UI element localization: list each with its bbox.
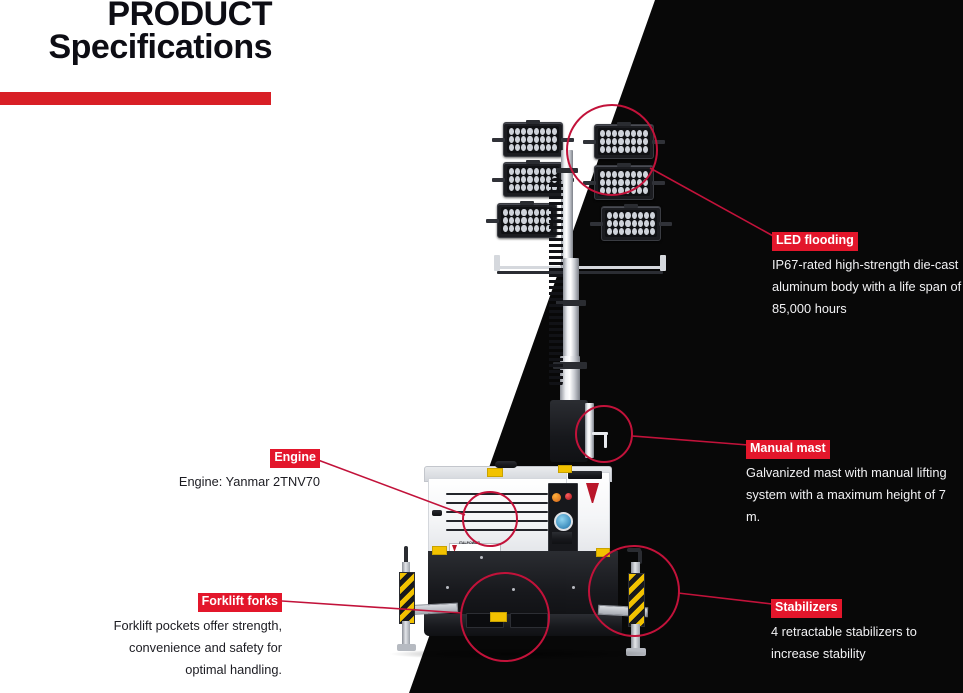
callout-engine: Engine Engine: Yanmar 2TNV70 <box>120 448 320 493</box>
mast-winch-crank-handle <box>604 432 607 448</box>
air-intake-louver <box>446 520 548 522</box>
led-bracket-right <box>561 138 574 142</box>
callout-description-led: IP67-rated high-strength die-cast alumin… <box>772 254 962 320</box>
callout-description-engine: Engine: Yanmar 2TNV70 <box>120 471 320 493</box>
air-intake-louver <box>446 511 548 513</box>
led-bracket-top <box>526 120 540 124</box>
led-diode-grid <box>501 207 553 234</box>
control-panel-slot <box>552 532 572 544</box>
air-intake-louver <box>446 493 548 495</box>
brand-name: ITALPOWER <box>459 541 480 545</box>
led-bracket-right <box>659 222 672 226</box>
callout-label-manual-mast: Manual mast <box>746 440 830 459</box>
led-diode-grid <box>598 169 650 196</box>
led-panel-6 <box>601 206 661 241</box>
led-cross-arm-stub-right <box>660 255 666 271</box>
callout-forklift-forks: Forklift forks Forklift pockets offer st… <box>85 592 282 681</box>
led-bracket-right <box>652 181 665 185</box>
stabilizer-leg-left <box>396 546 418 656</box>
led-cross-arm-stub-left <box>494 255 500 271</box>
chassis-bolt <box>512 588 515 591</box>
led-bracket-left <box>583 181 596 185</box>
chassis-bolt <box>572 586 575 589</box>
callout-description-stabilizers: 4 retractable stabilizers to increase st… <box>771 621 961 665</box>
led-bracket-left <box>492 178 505 182</box>
led-cross-arm-upper <box>497 266 663 269</box>
led-panel-1 <box>503 122 563 157</box>
indicator-lamp-red <box>565 493 572 500</box>
led-bracket-top <box>526 160 540 164</box>
led-diode-grid <box>605 210 657 237</box>
stabilizer-leg-right <box>625 548 647 660</box>
stabilizer-inner-tube <box>631 624 640 650</box>
led-diode-grid <box>507 126 559 153</box>
air-intake-louver <box>446 502 548 504</box>
led-cross-arm-lower <box>497 271 663 274</box>
emergency-stop-button <box>552 493 561 502</box>
ground-shadow <box>388 648 656 660</box>
forklift-pocket-right <box>510 613 548 628</box>
spiral-power-cable <box>549 178 563 388</box>
control-gauge <box>554 512 573 531</box>
led-bracket-left <box>583 140 596 144</box>
door-handle <box>432 510 442 516</box>
callout-description-forklift-forks: Forklift pockets offer strength, conveni… <box>85 615 282 681</box>
callout-led-flooding: LED flooding IP67-rated high-strength di… <box>772 231 962 320</box>
stabilizer-inner-tube <box>402 621 410 646</box>
roof-lifting-eye <box>495 461 517 468</box>
led-panel-3 <box>497 203 557 238</box>
mast-base-housing <box>550 400 588 462</box>
decal-warning-1 <box>432 546 447 555</box>
forklift-warning-label <box>490 612 507 622</box>
led-bracket-top <box>617 163 631 167</box>
roof-warning-label <box>487 468 503 477</box>
stabilizer-warning-stripes <box>399 572 415 624</box>
mast-head-clamp <box>556 168 578 173</box>
mast-base-rail <box>585 403 594 458</box>
callout-stabilizers: Stabilizers 4 retractable stabilizers to… <box>771 598 961 665</box>
callout-manual-mast: Manual mast Galvanized mast with manual … <box>746 439 951 528</box>
chassis-bolt <box>480 556 483 559</box>
callout-description-manual-mast: Galvanized mast with manual lifting syst… <box>746 462 951 528</box>
led-bracket-left <box>590 222 603 226</box>
callout-label-forklift-forks: Forklift forks <box>198 593 282 612</box>
product-image-light-tower: ITALPOWER LIGHTING TOWERS <box>0 0 963 693</box>
led-bracket-left <box>492 138 505 142</box>
led-bracket-right <box>652 140 665 144</box>
led-bracket-left <box>486 219 499 223</box>
led-panel-4 <box>594 124 654 159</box>
callout-label-led: LED flooding <box>772 232 858 251</box>
decal-warning-3 <box>558 465 572 473</box>
led-panel-5 <box>594 165 654 200</box>
led-bracket-top <box>617 122 631 126</box>
decal-warning-2 <box>596 548 610 557</box>
chassis-bolt <box>446 586 449 589</box>
poster-canvas: PRODUCT Specifications <box>0 0 963 693</box>
led-bracket-top <box>624 204 638 208</box>
side-nameplate <box>568 471 602 479</box>
callout-label-stabilizers: Stabilizers <box>771 599 842 618</box>
led-bracket-top <box>520 201 534 205</box>
stabilizer-warning-stripes <box>628 573 645 627</box>
led-diode-grid <box>598 128 650 155</box>
callout-label-engine: Engine <box>270 449 320 468</box>
